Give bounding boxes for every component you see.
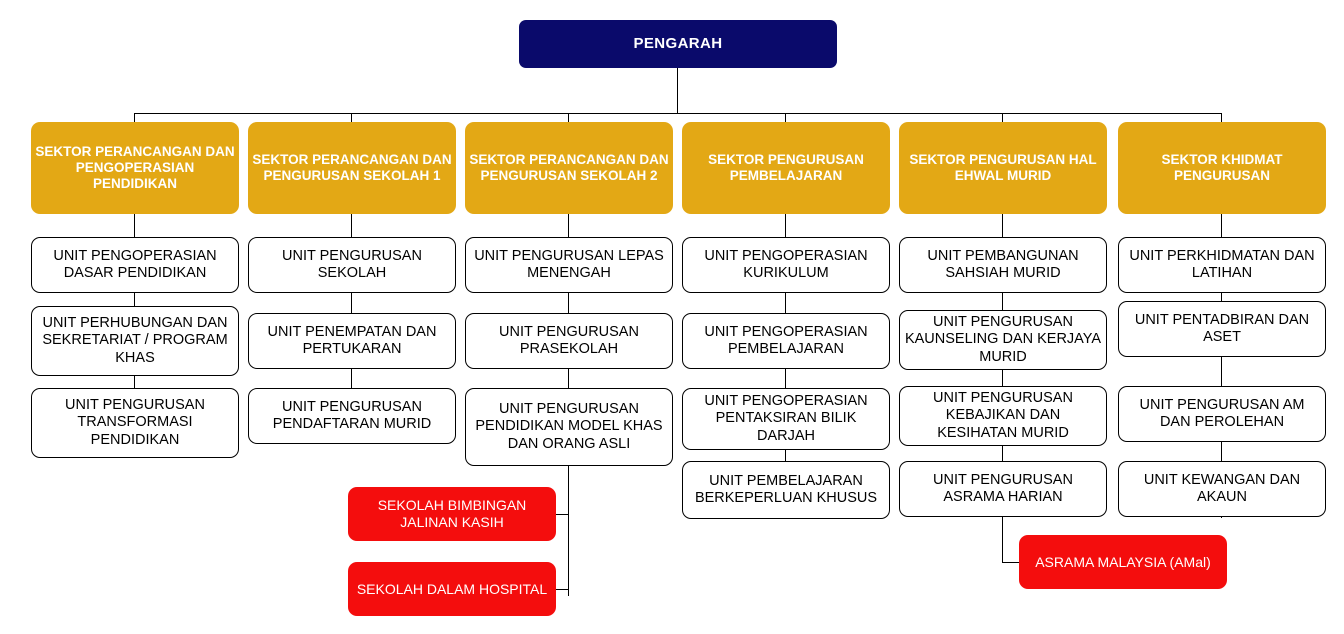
- node-unit-5-2-label: UNIT PENGURUSAN KAUNSELING DAN KERJAYA M…: [900, 314, 1106, 365]
- node-pengarah[interactable]: PENGARAH: [519, 20, 837, 68]
- node-sektor-2-label: SEKTOR PERANCANGAN DAN PENGURUSAN SEKOLA…: [248, 152, 456, 184]
- node-unit-5-1-label: UNIT PEMBANGUNAN SAHSIAH MURID: [900, 248, 1106, 282]
- node-unit-5-1[interactable]: UNIT PEMBANGUNAN SAHSIAH MURID: [899, 237, 1107, 293]
- node-unit-6-4-label: UNIT KEWANGAN DAN AKAUN: [1119, 472, 1325, 506]
- node-unit-4-4-label: UNIT PEMBELAJARAN BERKEPERLUAN KHUSUS: [683, 473, 889, 507]
- connector-root-stem: [677, 67, 678, 114]
- node-sektor-1[interactable]: SEKTOR PERANCANGAN DAN PENGOPERASIAN PEN…: [31, 122, 239, 214]
- node-unit-1-1[interactable]: UNIT PENGOPERASIAN DASAR PENDIDIKAN: [31, 237, 239, 293]
- node-sekolah-bimbingan-jalinan-kasih-label: SEKOLAH BIMBINGAN JALINAN KASIH: [348, 497, 556, 530]
- node-pengarah-label: PENGARAH: [519, 35, 837, 53]
- node-unit-1-1-label: UNIT PENGOPERASIAN DASAR PENDIDIKAN: [32, 248, 238, 282]
- connector-root-bus: [134, 113, 1222, 114]
- node-sektor-5-label: SEKTOR PENGURUSAN HAL EHWAL MURID: [899, 152, 1107, 184]
- node-unit-2-3[interactable]: UNIT PENGURUSAN PENDAFTARAN MURID: [248, 388, 456, 444]
- node-sektor-3-label: SEKTOR PERANCANGAN DAN PENGURUSAN SEKOLA…: [465, 152, 673, 184]
- node-unit-4-1[interactable]: UNIT PENGOPERASIAN KURIKULUM: [682, 237, 890, 293]
- node-unit-5-2[interactable]: UNIT PENGURUSAN KAUNSELING DAN KERJAYA M…: [899, 310, 1107, 370]
- node-sektor-4[interactable]: SEKTOR PENGURUSAN PEMBELAJARAN: [682, 122, 890, 214]
- node-unit-4-1-label: UNIT PENGOPERASIAN KURIKULUM: [683, 248, 889, 282]
- node-unit-4-3[interactable]: UNIT PENGOPERASIAN PENTAKSIRAN BILIK DAR…: [682, 388, 890, 450]
- node-unit-5-4[interactable]: UNIT PENGURUSAN ASRAMA HARIAN: [899, 461, 1107, 517]
- node-unit-2-2-label: UNIT PENEMPATAN DAN PERTUKARAN: [249, 324, 455, 358]
- node-unit-3-1-label: UNIT PENGURUSAN LEPAS MENENGAH: [466, 248, 672, 282]
- node-unit-6-2[interactable]: UNIT PENTADBIRAN DAN ASET: [1118, 301, 1326, 357]
- connector-school-spine: [568, 465, 569, 596]
- node-unit-2-1[interactable]: UNIT PENGURUSAN SEKOLAH: [248, 237, 456, 293]
- node-unit-2-2[interactable]: UNIT PENEMPATAN DAN PERTUKARAN: [248, 313, 456, 369]
- node-sektor-6-label: SEKTOR KHIDMAT PENGURUSAN: [1118, 152, 1326, 184]
- node-unit-6-3-label: UNIT PENGURUSAN AM DAN PEROLEHAN: [1119, 397, 1325, 431]
- node-sektor-1-label: SEKTOR PERANCANGAN DAN PENGOPERASIAN PEN…: [31, 144, 239, 192]
- node-unit-6-1[interactable]: UNIT PERKHIDMATAN DAN LATIHAN: [1118, 237, 1326, 293]
- node-sekolah-dalam-hospital[interactable]: SEKOLAH DALAM HOSPITAL: [348, 562, 556, 616]
- node-unit-1-2-label: UNIT PERHUBUNGAN DAN SEKRETARIAT / PROGR…: [32, 315, 238, 366]
- node-unit-3-3-label: UNIT PENGURUSAN PENDIDIKAN MODEL KHAS DA…: [466, 401, 672, 452]
- node-sekolah-dalam-hospital-label: SEKOLAH DALAM HOSPITAL: [348, 581, 556, 598]
- node-asrama-malaysia-label: ASRAMA MALAYSIA (AMal): [1019, 554, 1227, 571]
- node-sektor-2[interactable]: SEKTOR PERANCANGAN DAN PENGURUSAN SEKOLA…: [248, 122, 456, 214]
- node-unit-6-1-label: UNIT PERKHIDMATAN DAN LATIHAN: [1119, 248, 1325, 282]
- node-sektor-4-label: SEKTOR PENGURUSAN PEMBELAJARAN: [682, 152, 890, 184]
- node-unit-4-2[interactable]: UNIT PENGOPERASIAN PEMBELAJARAN: [682, 313, 890, 369]
- node-sektor-5[interactable]: SEKTOR PENGURUSAN HAL EHWAL MURID: [899, 122, 1107, 214]
- node-unit-2-1-label: UNIT PENGURUSAN SEKOLAH: [249, 248, 455, 282]
- node-unit-4-3-label: UNIT PENGOPERASIAN PENTAKSIRAN BILIK DAR…: [683, 393, 889, 444]
- node-unit-1-3[interactable]: UNIT PENGURUSAN TRANSFORMASI PENDIDIKAN: [31, 388, 239, 458]
- node-unit-1-3-label: UNIT PENGURUSAN TRANSFORMASI PENDIDIKAN: [32, 397, 238, 448]
- node-unit-4-2-label: UNIT PENGOPERASIAN PEMBELAJARAN: [683, 324, 889, 358]
- node-unit-5-3[interactable]: UNIT PENGURUSAN KEBAJIKAN DAN KESIHATAN …: [899, 386, 1107, 446]
- node-sekolah-bimbingan-jalinan-kasih[interactable]: SEKOLAH BIMBINGAN JALINAN KASIH: [348, 487, 556, 541]
- node-unit-6-3[interactable]: UNIT PENGURUSAN AM DAN PEROLEHAN: [1118, 386, 1326, 442]
- node-unit-5-3-label: UNIT PENGURUSAN KEBAJIKAN DAN KESIHATAN …: [900, 390, 1106, 441]
- connector-asrama-spine: [1002, 516, 1003, 563]
- org-chart: PENGARAH SEKTOR PERANCANGAN DAN PENGOPER…: [0, 0, 1344, 634]
- node-unit-3-1[interactable]: UNIT PENGURUSAN LEPAS MENENGAH: [465, 237, 673, 293]
- node-unit-1-2[interactable]: UNIT PERHUBUNGAN DAN SEKRETARIAT / PROGR…: [31, 306, 239, 376]
- node-unit-6-4[interactable]: UNIT KEWANGAN DAN AKAUN: [1118, 461, 1326, 517]
- node-sektor-6[interactable]: SEKTOR KHIDMAT PENGURUSAN: [1118, 122, 1326, 214]
- node-unit-5-4-label: UNIT PENGURUSAN ASRAMA HARIAN: [900, 472, 1106, 506]
- node-unit-3-2-label: UNIT PENGURUSAN PRASEKOLAH: [466, 324, 672, 358]
- node-unit-3-3[interactable]: UNIT PENGURUSAN PENDIDIKAN MODEL KHAS DA…: [465, 388, 673, 466]
- node-unit-6-2-label: UNIT PENTADBIRAN DAN ASET: [1119, 312, 1325, 346]
- node-unit-4-4[interactable]: UNIT PEMBELAJARAN BERKEPERLUAN KHUSUS: [682, 461, 890, 519]
- node-unit-3-2[interactable]: UNIT PENGURUSAN PRASEKOLAH: [465, 313, 673, 369]
- node-unit-2-3-label: UNIT PENGURUSAN PENDAFTARAN MURID: [249, 399, 455, 433]
- node-asrama-malaysia[interactable]: ASRAMA MALAYSIA (AMal): [1019, 535, 1227, 589]
- node-sektor-3[interactable]: SEKTOR PERANCANGAN DAN PENGURUSAN SEKOLA…: [465, 122, 673, 214]
